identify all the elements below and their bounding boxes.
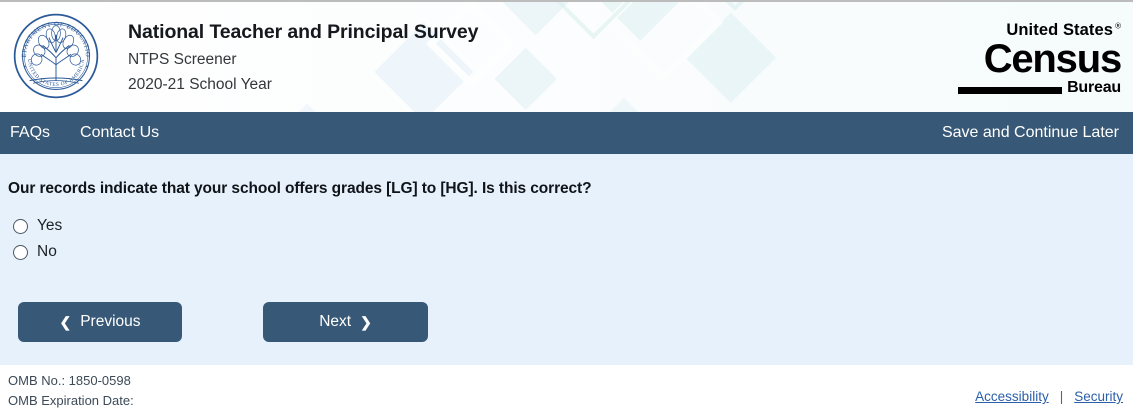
census-logo-line3: Bureau bbox=[958, 80, 1121, 96]
registered-trademark-icon: ® bbox=[1115, 22, 1121, 31]
page-header: DEPARTMENT OF EDUCATION UNITED STATES OF… bbox=[0, 2, 1133, 112]
page-title: National Teacher and Principal Survey bbox=[128, 20, 478, 45]
security-link[interactable]: Security bbox=[1074, 389, 1123, 404]
header-titles: National Teacher and Principal Survey NT… bbox=[128, 20, 478, 96]
radio-option-yes[interactable]: Yes bbox=[8, 213, 62, 239]
nav-link-contact-us[interactable]: Contact Us bbox=[80, 124, 159, 142]
footer-links: Accessibility | Security bbox=[975, 389, 1123, 411]
accessibility-link[interactable]: Accessibility bbox=[975, 389, 1049, 404]
department-of-education-seal-icon: DEPARTMENT OF EDUCATION UNITED STATES OF… bbox=[12, 12, 100, 100]
chevron-left-icon: ❮ bbox=[59, 315, 71, 329]
page-footer: OMB No.: 1850-0598 OMB Expiration Date: … bbox=[0, 365, 1133, 411]
footer-link-separator: | bbox=[1060, 389, 1064, 404]
next-button-label: Next bbox=[319, 313, 351, 331]
school-year: 2020-21 School Year bbox=[128, 75, 478, 96]
radio-label-yes: Yes bbox=[37, 217, 62, 235]
census-logo-bar bbox=[958, 87, 1062, 94]
survey-content: Our records indicate that your school of… bbox=[0, 154, 1133, 365]
next-button[interactable]: Next ❯ bbox=[263, 302, 428, 342]
radio-label-no: No bbox=[37, 243, 57, 261]
omb-expiration-date: OMB Expiration Date: bbox=[8, 391, 134, 411]
chevron-right-icon: ❯ bbox=[360, 315, 372, 329]
survey-page: DEPARTMENT OF EDUCATION UNITED STATES OF… bbox=[0, 0, 1133, 411]
navigation-buttons: ❮ Previous Next ❯ bbox=[8, 302, 1123, 342]
radio-button-yes[interactable] bbox=[13, 219, 28, 234]
census-logo-bureau: Bureau bbox=[1067, 80, 1121, 96]
nav-right-group: Save and Continue Later bbox=[942, 124, 1119, 142]
nav-links-group: FAQs Contact Us bbox=[10, 124, 159, 142]
radio-option-no[interactable]: No bbox=[8, 239, 57, 265]
save-and-continue-later-button[interactable]: Save and Continue Later bbox=[942, 124, 1119, 141]
previous-button-label: Previous bbox=[80, 313, 140, 331]
census-bureau-logo: United States® Census Bureau bbox=[958, 22, 1121, 96]
omb-number: OMB No.: 1850-0598 bbox=[8, 371, 134, 391]
omb-info: OMB No.: 1850-0598 OMB Expiration Date: bbox=[8, 371, 134, 411]
census-logo-census: Census bbox=[958, 40, 1121, 78]
nav-link-faqs[interactable]: FAQs bbox=[10, 124, 50, 142]
navigation-bar: FAQs Contact Us Save and Continue Later bbox=[0, 112, 1133, 154]
radio-button-no[interactable] bbox=[13, 245, 28, 260]
answer-options: Yes No bbox=[8, 213, 1123, 265]
previous-button[interactable]: ❮ Previous bbox=[18, 302, 182, 342]
question-text: Our records indicate that your school of… bbox=[8, 180, 1123, 198]
survey-subtitle: NTPS Screener bbox=[128, 50, 478, 71]
